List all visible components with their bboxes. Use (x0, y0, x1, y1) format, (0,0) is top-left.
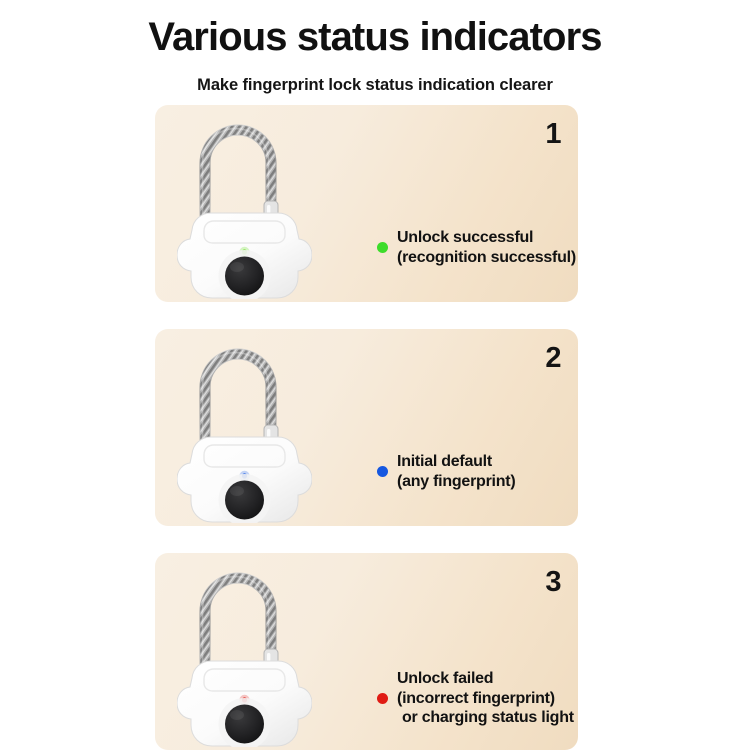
status-label: Unlock successful (recognition successfu… (397, 228, 576, 267)
status-card-1: 1 (155, 105, 578, 302)
status-label: Initial default (any fingerprint) (397, 452, 515, 491)
fingerprint-padlock-icon (177, 557, 312, 747)
page-subtitle: Make fingerprint lock status indication … (0, 76, 750, 95)
status-indicator-2: Initial default (any fingerprint) (377, 452, 515, 491)
card-number-badge: 1 (545, 118, 561, 151)
fingerprint-sensor (225, 257, 264, 296)
fingerprint-sensor (225, 705, 264, 744)
status-dot-red (377, 693, 388, 704)
status-indicator-3: Unlock failed (incorrect fingerprint) or… (377, 669, 574, 728)
fingerprint-sensor (225, 481, 264, 520)
status-card-3: 3 (155, 553, 578, 750)
status-dot-green (377, 242, 388, 253)
card-number-badge: 3 (545, 566, 561, 599)
status-card-2: 2 (155, 329, 578, 526)
status-dot-blue (377, 466, 388, 477)
card-number-badge: 2 (545, 342, 561, 375)
fingerprint-padlock-icon (177, 333, 312, 523)
status-indicator-1: Unlock successful (recognition successfu… (377, 228, 576, 267)
fingerprint-padlock-icon (177, 109, 312, 299)
status-label: Unlock failed (incorrect fingerprint) or… (397, 669, 574, 728)
page-title: Various status indicators (0, 14, 750, 60)
